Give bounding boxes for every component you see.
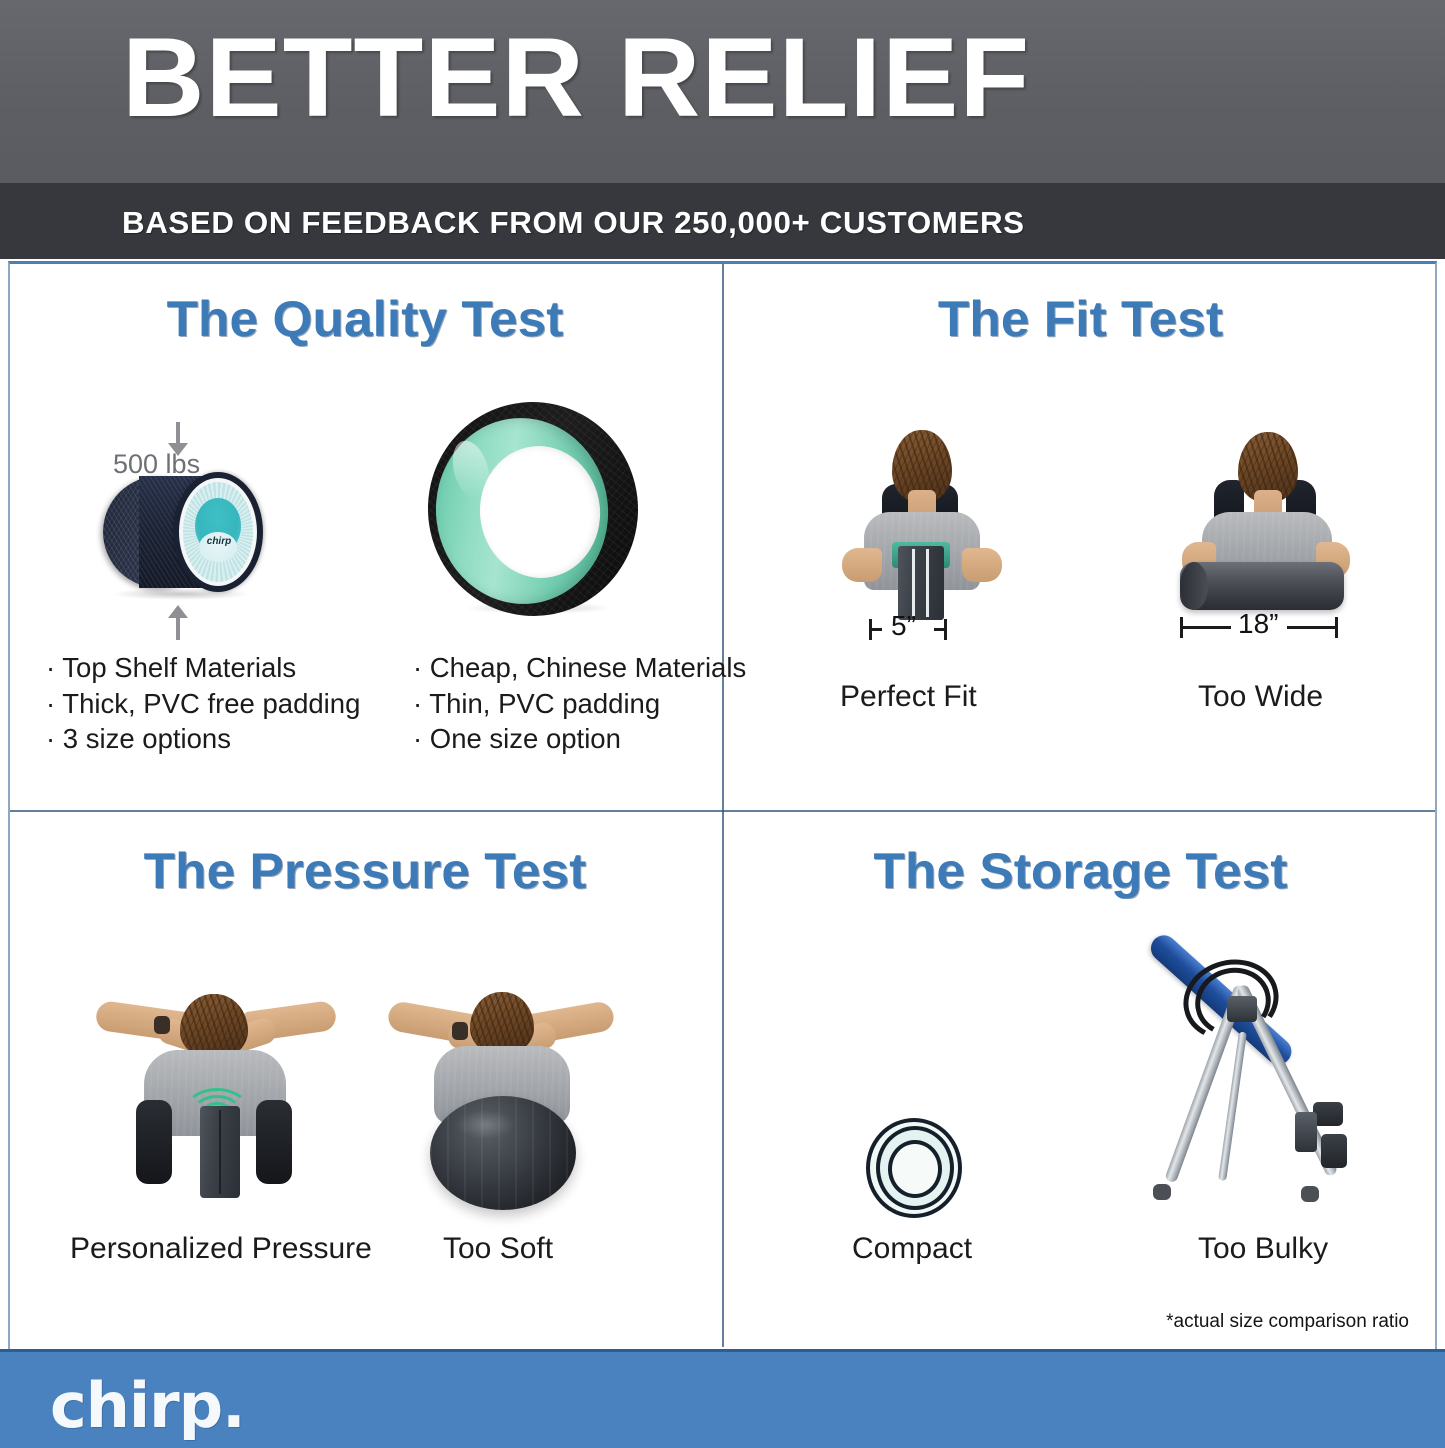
watch: [452, 1022, 468, 1040]
infographic-page: BETTER RELIEF BASED ON FEEDBACK FROM OUR…: [0, 0, 1445, 1445]
roller-end-cap: [1180, 562, 1208, 610]
chirp-wheel-narrow: [898, 546, 944, 620]
fit-good-caption: Perfect Fit: [840, 680, 977, 714]
header-subtitle: BASED ON FEEDBACK FROM OUR 250,000+ CUST…: [122, 205, 1025, 241]
leg-left: [136, 1100, 172, 1184]
page-title: BETTER RELIEF: [122, 22, 1030, 134]
bullet-item: · Thick, PVC free padding: [46, 688, 360, 720]
wheel-logo-text: chirp: [199, 536, 239, 547]
bullet-item: · 3 size options: [46, 723, 360, 755]
hair: [180, 994, 248, 1058]
storage-good-caption: Compact: [852, 1232, 972, 1266]
leg-right: [256, 1100, 292, 1184]
foot-rear: [1153, 1184, 1171, 1200]
nested-wheels-graphic: [866, 1114, 966, 1214]
fit-test-title: The Fit Test: [713, 290, 1445, 348]
ankle-bracket: [1295, 1112, 1317, 1152]
inversion-table-graphic: [1135, 912, 1385, 1212]
pressure-test-title: The Pressure Test: [0, 842, 733, 900]
dimension-bar: [1287, 626, 1335, 629]
pressure-bad-person: [388, 984, 614, 1210]
fit-good-person: [836, 424, 1006, 624]
arm-right: [962, 548, 1002, 582]
fit-bad-person: [1180, 424, 1350, 624]
load-arrow-up-head: [168, 605, 188, 618]
bullet-item: · One size option: [413, 723, 746, 755]
quality-good-bullets: · Top Shelf Materials · Thick, PVC free …: [46, 652, 360, 759]
pivot-clamp: [1227, 996, 1257, 1022]
storage-test-title: The Storage Test: [713, 842, 1445, 900]
ring-small: [888, 1140, 942, 1198]
dimension-label: 18”: [1238, 608, 1278, 640]
chirp-wheel-under-back: [200, 1106, 240, 1198]
pressure-good-person: [96, 988, 336, 1198]
dimension-bar: [872, 628, 882, 631]
load-arrow-down-shaft: [176, 422, 180, 444]
exercise-ball: [430, 1096, 576, 1210]
watch: [154, 1016, 170, 1034]
ankle-pad-upper: [1313, 1102, 1343, 1126]
bullet-item: · Cheap, Chinese Materials: [413, 652, 746, 684]
ankle-pad-lower: [1321, 1134, 1347, 1168]
hair: [470, 992, 534, 1054]
ball-highlight: [456, 1110, 514, 1140]
quality-bad-bullets: · Cheap, Chinese Materials · Thin, PVC p…: [413, 652, 746, 759]
dimension-5-inch: 5”: [869, 618, 947, 640]
foot-front: [1301, 1186, 1319, 1202]
chirp-wheel-graphic: chirp: [103, 470, 263, 595]
arm-left: [842, 548, 882, 582]
storage-footnote: *actual size comparison ratio: [1166, 1311, 1409, 1333]
bullet-item: · Top Shelf Materials: [46, 652, 360, 684]
chirp-logo: chirp.: [50, 1369, 245, 1442]
bullet-item: · Thin, PVC padding: [413, 688, 746, 720]
storage-bad-caption: Too Bulky: [1198, 1232, 1328, 1266]
wheel-center-line: [926, 549, 929, 617]
wheel-center-line: [219, 1110, 221, 1194]
dimension-cap-right: [1335, 617, 1338, 638]
competitor-yoga-wheel-graphic: [428, 402, 638, 620]
pressure-good-caption: Personalized Pressure: [70, 1232, 372, 1266]
quality-test-title: The Quality Test: [0, 290, 733, 348]
dimension-cap-right: [944, 619, 947, 640]
load-arrow-up-shaft: [176, 618, 180, 640]
wide-foam-roller: [1180, 562, 1344, 610]
dimension-18-inch: 18”: [1180, 616, 1338, 638]
dimension-label: 5”: [891, 610, 916, 642]
dimension-bar: [1183, 626, 1231, 629]
fit-bad-caption: Too Wide: [1198, 680, 1323, 714]
wheel-center-line: [912, 549, 915, 617]
dimension-bar: [934, 628, 944, 631]
pressure-bad-caption: Too Soft: [443, 1232, 553, 1266]
